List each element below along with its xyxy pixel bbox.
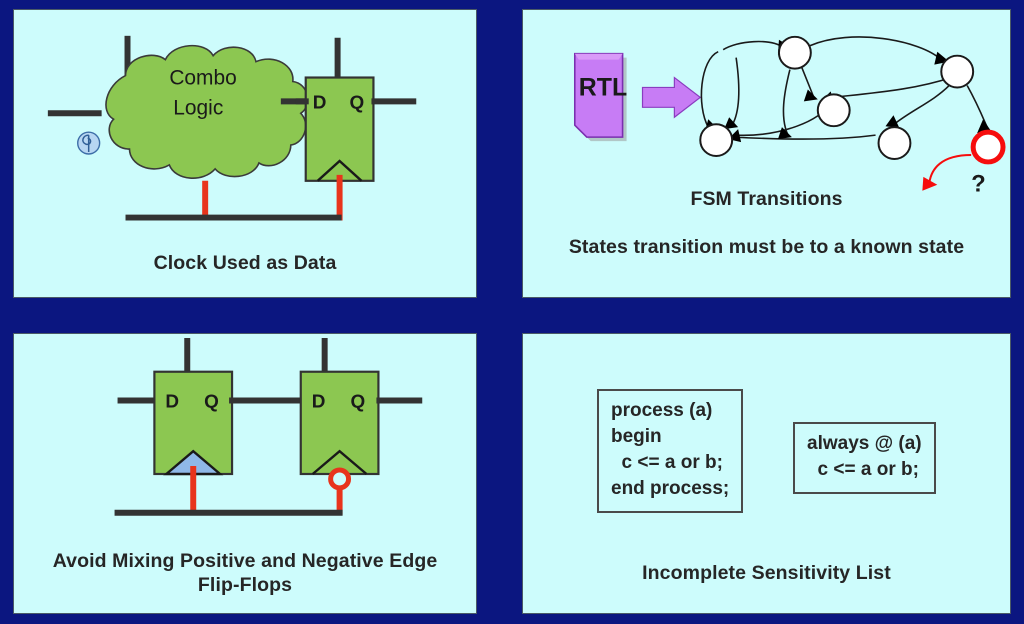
- rtl-document-icon: RTL: [575, 54, 627, 141]
- ff1-d-label: D: [165, 391, 179, 412]
- cloud-label-line2: Logic: [173, 96, 223, 119]
- panel-caption-clock-used-as-data: Clock Used as Data: [14, 251, 476, 275]
- code-block-vhdl: process (a) begin c <= a or b; end proce…: [597, 389, 743, 513]
- right-arrow-icon: [643, 78, 701, 118]
- panel-incomplete-sensitivity-list: process (a) begin c <= a or b; end proce…: [522, 333, 1011, 614]
- panel-caption-edge-mixing: Avoid Mixing Positive and Negative Edge …: [14, 549, 476, 597]
- panel-caption-fsm-transitions: FSM Transitions States transition must b…: [523, 163, 1010, 283]
- code-block-verilog: always @ (a) c <= a or b;: [793, 422, 936, 494]
- panel-edge-mixing: D Q D Q Avoid Mixing Positive and Negati…: [13, 333, 477, 614]
- panel-caption-incomplete-sensitivity-list: Incomplete Sensitivity List: [523, 561, 1010, 585]
- code-vhdl-text: process (a) begin c <= a or b; end proce…: [611, 398, 729, 502]
- code-verilog-text: always @ (a) c <= a or b;: [807, 431, 922, 483]
- ff2-d-label: D: [312, 391, 326, 412]
- fsm-edge-group: [701, 37, 991, 142]
- flip-flop-2-box: [301, 372, 379, 474]
- panel-fsm-transitions: RTL: [522, 9, 1011, 298]
- fsm-state-node: [941, 56, 973, 88]
- panel-clock-used-as-data: Combo Logic D Q: [13, 9, 477, 298]
- fsm-state-node: [700, 124, 732, 156]
- rtl-document-label: RTL: [579, 73, 627, 101]
- slide-canvas: Combo Logic D Q: [0, 0, 1024, 624]
- flip-flop-d-label: D: [313, 92, 327, 113]
- ff2-q-label: Q: [351, 391, 366, 412]
- fsm-state-node: [879, 127, 911, 159]
- inverting-clock-bubble-icon: [331, 470, 349, 488]
- fsm-state-node: [818, 94, 850, 126]
- cloud-label-line1: Combo: [169, 67, 236, 90]
- clock-icon: [78, 132, 100, 154]
- fsm-caption-line-1: FSM Transitions: [523, 187, 1010, 211]
- flip-flop-q-label: Q: [350, 92, 365, 113]
- unknown-state-circle-icon: [973, 132, 1003, 162]
- fsm-caption-line-2: States transition must be to a known sta…: [523, 235, 1010, 259]
- ff1-q-label: Q: [204, 391, 219, 412]
- fsm-state-node: [779, 37, 811, 69]
